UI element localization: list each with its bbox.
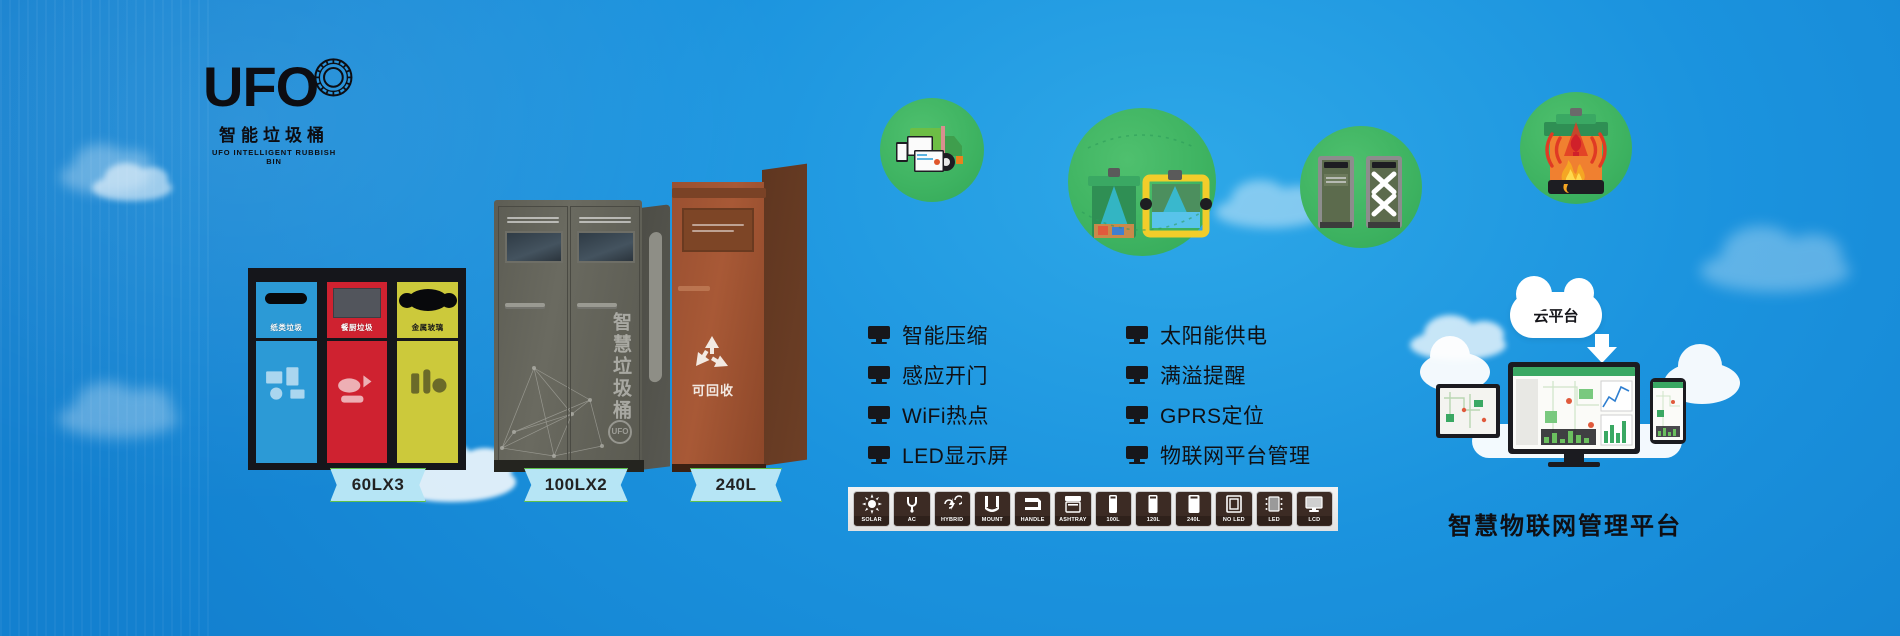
panel-text-lines [692, 224, 744, 236]
option-caption: LCD [1297, 516, 1332, 525]
monitor-bullet-icon [1126, 366, 1148, 384]
option-caption: AC [894, 516, 929, 525]
feature-item: WiFi热点 [868, 398, 1078, 432]
option-tile-mount[interactable]: MOUNT [974, 491, 1011, 527]
option-caption: HYBRID [935, 516, 970, 525]
bin-cap [394, 272, 461, 279]
monitor-bullet-icon [868, 366, 890, 384]
tablet-device[interactable] [1436, 384, 1500, 438]
hybrid-bolt-icon [935, 492, 970, 516]
bin-display-panel [682, 208, 754, 252]
size-ribbon-100lx2: 100LX2 [524, 468, 628, 502]
map-dashboard-graphic [1440, 388, 1496, 434]
door-instruction-text [579, 217, 631, 227]
door-handle[interactable] [505, 303, 545, 309]
feature-item: 智能压缩 [868, 318, 1078, 352]
desktop-monitor[interactable] [1508, 362, 1640, 454]
feature-label: 感应开门 [902, 360, 988, 390]
option-tile-solar[interactable]: SOLAR [853, 491, 890, 527]
circle-fleet-monitoring [880, 98, 984, 202]
bin-side-text: 智慧垃圾桶 [607, 312, 634, 422]
product-lineup: 纸类垃圾 [0, 0, 900, 636]
wall-mount-icon [975, 492, 1010, 516]
bin-window [577, 231, 635, 263]
option-tile-240l[interactable]: 240L [1175, 491, 1212, 527]
recycle-label: 可回收 [682, 380, 744, 399]
mobile-dashboard-graphic [1653, 382, 1683, 440]
feature-item: GPRS定位 [1126, 398, 1366, 432]
circle-fill-level [1068, 108, 1216, 256]
bin-top-panel: 金属玻璃 [394, 279, 461, 341]
feature-item: 感应开门 [868, 358, 1078, 392]
bin-bottom-panel [394, 341, 461, 466]
compartment-label: 餐厨垃圾 [327, 322, 388, 333]
fire-alarm-bin-icon [1520, 92, 1632, 204]
bin-compartment: 纸类垃圾 [253, 272, 320, 466]
bin-compartment: 金属玻璃 [394, 272, 461, 466]
sun-icon [854, 492, 889, 516]
feature-item: 物联网平台管理 [1126, 438, 1366, 472]
feature-item: LED显示屏 [868, 438, 1078, 472]
option-tile-hybrid[interactable]: HYBRID [934, 491, 971, 527]
bin-fill-sensor-icon [1068, 108, 1216, 256]
bin-lid [672, 188, 766, 198]
feature-item: 太阳能供电 [1126, 318, 1366, 352]
monitor-bullet-icon [1126, 406, 1148, 424]
bin-brand-badge: UFO [608, 420, 632, 444]
feature-label: 满溢提醒 [1160, 360, 1246, 390]
compartment-label: 金属玻璃 [397, 322, 458, 333]
platform-title: 智慧物联网管理平台 [1415, 506, 1715, 541]
product-bin-100lx2[interactable]: 智慧垃圾桶 UFO [494, 200, 670, 472]
feature-list: 智能压缩 太阳能供电 感应开门 满溢提醒 WiFi热点 GPRS定位 LED显示… [868, 318, 1366, 472]
monitor-bullet-icon [868, 326, 890, 344]
door-instruction-text [507, 217, 559, 227]
lcd-icon [1297, 492, 1332, 516]
door-handle[interactable] [678, 286, 710, 291]
option-tile-ac[interactable]: AC [893, 491, 930, 527]
recycling-illustration [256, 341, 317, 422]
option-tile-120l[interactable]: 120L [1135, 491, 1172, 527]
size-ribbon-240l: 240L [690, 468, 782, 502]
option-caption: 240L [1176, 516, 1211, 525]
option-tile-ashtray[interactable]: ASHTRAY [1054, 491, 1091, 527]
bin-display-screen [333, 288, 382, 318]
bin-compartment: 餐厨垃圾 [324, 272, 391, 466]
bin-side-panel [762, 164, 807, 466]
led-icon [1257, 492, 1292, 516]
smartphone-device[interactable] [1650, 378, 1686, 444]
management-dashboard-graphic [1513, 367, 1635, 449]
option-tile-lcd[interactable]: LCD [1296, 491, 1333, 527]
twin-bin-compaction-icon [1300, 126, 1422, 248]
product-bin-60lx3[interactable]: 纸类垃圾 [248, 268, 466, 470]
phone-screen [1653, 382, 1683, 440]
option-caption: SOLAR [854, 516, 889, 525]
feature-label: WiFi热点 [902, 400, 989, 430]
garbage-truck-and-devices-icon [880, 98, 984, 202]
bin-cap [253, 272, 320, 279]
option-tile-handle[interactable]: HANDLE [1014, 491, 1051, 527]
feature-label: LED显示屏 [902, 440, 1009, 470]
bin-bottom-panel [253, 341, 320, 466]
feature-label: GPRS定位 [1160, 400, 1265, 430]
no-led-icon [1216, 492, 1251, 516]
option-caption: MOUNT [975, 516, 1010, 525]
bin-body: 纸类垃圾 [248, 268, 466, 470]
monitor-bullet-icon [868, 446, 890, 464]
glass-metal-illustration [397, 341, 458, 422]
bin-vent-icon [649, 231, 662, 383]
bin-top-panel: 纸类垃圾 [253, 279, 320, 341]
monitor-screen [1513, 367, 1635, 449]
food-waste-illustration [327, 341, 388, 422]
bin-side-panel [640, 204, 670, 470]
ashtray-icon [1055, 492, 1090, 516]
option-icon-strip: SOLAR AC HYBRID MOUNT [848, 487, 1338, 531]
cloud-platform-label: 云平台 [1533, 305, 1578, 326]
feature-label: 物联网平台管理 [1160, 440, 1311, 470]
feature-label: 智能压缩 [902, 320, 988, 350]
bin-120l-icon [1136, 492, 1171, 516]
monitor-base [1548, 462, 1600, 467]
option-tile-no-led[interactable]: NO LED [1215, 491, 1252, 527]
option-caption: 120L [1136, 516, 1171, 525]
compartment-label: 纸类垃圾 [256, 322, 317, 333]
feature-label: 太阳能供电 [1160, 320, 1268, 350]
size-ribbon-60lx3: 60LX3 [330, 468, 426, 502]
recycle-icon [690, 332, 734, 376]
circle-fire-alarm [1520, 92, 1632, 204]
option-caption: NO LED [1216, 516, 1251, 525]
bin-window [505, 231, 563, 263]
bin-bottom-panel [324, 341, 391, 466]
feature-item: 满溢提醒 [1126, 358, 1366, 392]
power-plug-icon [894, 492, 929, 516]
bin-top-panel: 餐厨垃圾 [324, 279, 391, 341]
option-tile-100l[interactable]: 100L [1095, 491, 1132, 527]
circle-compaction [1300, 126, 1422, 248]
cloud-decoration [1700, 250, 1850, 292]
tablet-screen [1440, 388, 1496, 434]
bin-cap [324, 272, 391, 279]
iot-platform-scene: 云平台 [1412, 292, 1742, 482]
option-caption: HANDLE [1015, 516, 1050, 525]
monitor-bullet-icon [868, 406, 890, 424]
product-bin-240l[interactable]: 可回收 [672, 170, 807, 470]
waste-slot-icon [265, 293, 307, 304]
bin-body: 智慧垃圾桶 UFO [494, 200, 642, 468]
monitor-bullet-icon [1126, 326, 1148, 344]
option-caption: LED [1257, 516, 1292, 525]
cloud-platform-badge[interactable]: 云平台 [1510, 292, 1602, 338]
option-caption: ASHTRAY [1055, 516, 1090, 525]
handle-icon [1015, 492, 1050, 516]
bin-door-left[interactable] [498, 206, 568, 462]
door-handle[interactable] [577, 303, 617, 309]
option-caption: 100L [1096, 516, 1131, 525]
bin-body: 可回收 [672, 182, 764, 470]
promo-banner: UFO [0, 0, 1900, 636]
monitor-bullet-icon [1126, 446, 1148, 464]
bin-240l-icon [1176, 492, 1211, 516]
bottle-slot-icon [408, 289, 448, 311]
bin-100l-icon [1096, 492, 1131, 516]
option-tile-led[interactable]: LED [1256, 491, 1293, 527]
